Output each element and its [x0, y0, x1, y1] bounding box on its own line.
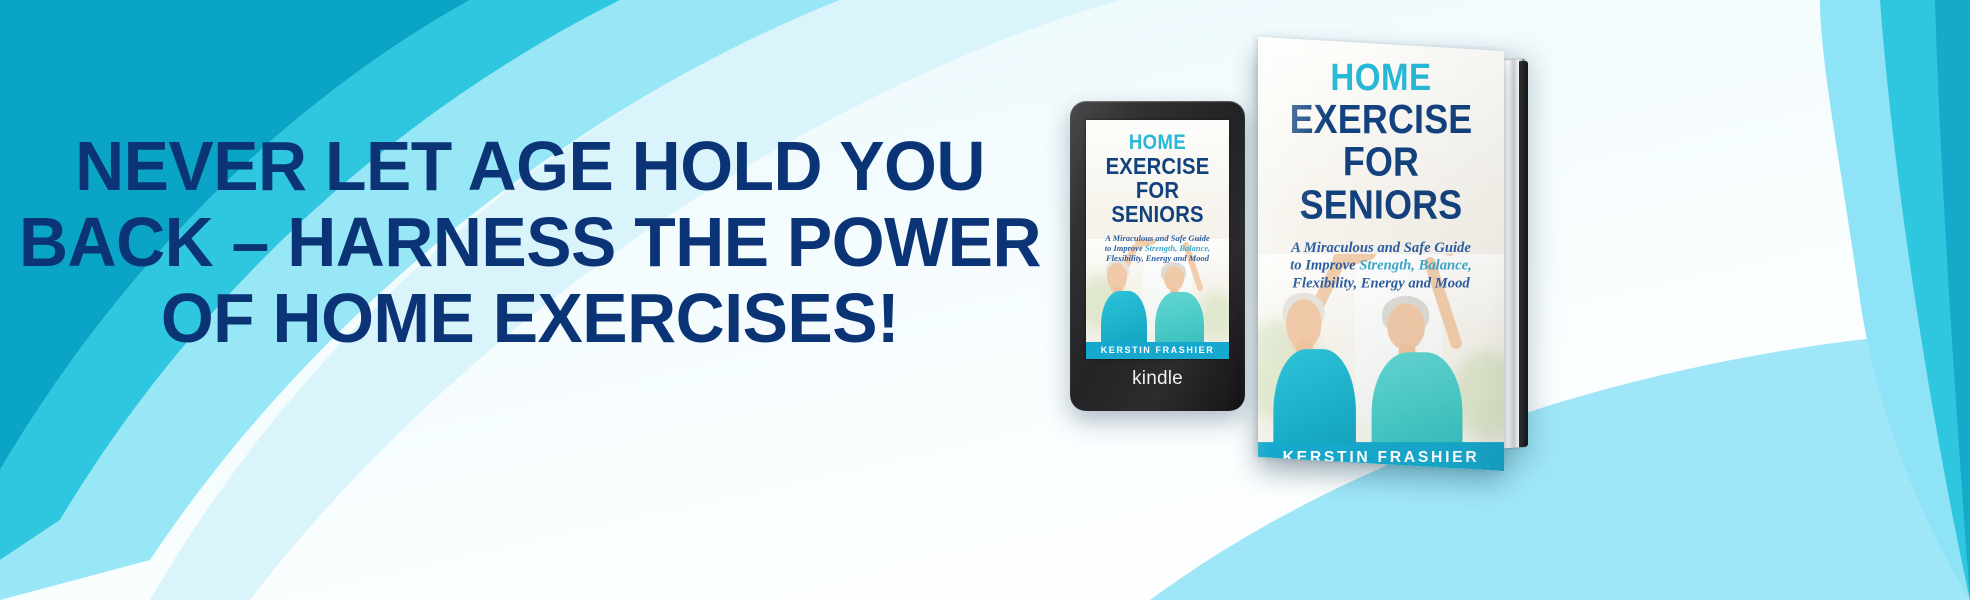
book-title-exercise: EXERCISE	[1268, 98, 1494, 141]
kindle-screen: HOME EXERCISE FOR SENIORS A Miraculous a…	[1086, 120, 1229, 359]
promo-banner: NEVER LET AGE HOLD YOU BACK – HARNESS TH…	[0, 0, 1970, 600]
cover-subtitle-line-2: to Improve Strength, Balance,	[1086, 243, 1229, 253]
book-subtitle-line-2: to Improve Strength, Balance,	[1258, 257, 1504, 275]
cover-title-block: HOME EXERCISE FOR SENIORS A Miraculous a…	[1086, 132, 1229, 263]
book-author-band: KERSTIN FRASHIER	[1258, 442, 1504, 471]
book-subtitle-2-dark: to Improve	[1290, 258, 1359, 274]
book-title-home: HOME	[1268, 58, 1494, 97]
cover-title-exercise: EXERCISE	[1095, 154, 1221, 178]
cover-author-band: KERSTIN FRASHIER	[1086, 342, 1229, 359]
wave-right-light	[1820, 0, 1970, 600]
headline-line-1: NEVER LET AGE HOLD YOU	[16, 128, 1044, 204]
headline-line-2: BACK – HARNESS THE POWER	[16, 204, 1044, 280]
headline-line-3: OF HOME EXERCISES!	[16, 280, 1044, 356]
book-front-cover: HOME EXERCISE FOR SENIORS A Miraculous a…	[1258, 37, 1504, 471]
headline: NEVER LET AGE HOLD YOU BACK – HARNESS TH…	[0, 128, 1060, 356]
cover-title-for-seniors: FOR SENIORS	[1095, 178, 1221, 226]
hardcover-book: HOME EXERCISE FOR SENIORS A Miraculous a…	[1258, 44, 1558, 464]
ebook-cover: HOME EXERCISE FOR SENIORS A Miraculous a…	[1086, 120, 1229, 359]
cover-subtitle-2-dark: to Improve	[1105, 243, 1145, 253]
cover-subtitle-line-1: A Miraculous and Safe Guide	[1086, 233, 1229, 243]
book-subtitle-line-1: A Miraculous and Safe Guide	[1258, 239, 1504, 257]
kindle-brand-logo: kindle	[1070, 369, 1245, 388]
wave-right-mid	[1880, 0, 1970, 600]
book-title-block: HOME EXERCISE FOR SENIORS A Miraculous a…	[1258, 58, 1504, 293]
wave-right-deep	[1935, 0, 1970, 600]
print-book-cover: HOME EXERCISE FOR SENIORS A Miraculous a…	[1258, 37, 1504, 471]
cover-subtitle-line-3: Flexibility, Energy and Mood	[1086, 253, 1229, 263]
cover-title-home: HOME	[1095, 132, 1221, 153]
book-title-for-seniors: FOR SENIORS	[1268, 141, 1494, 227]
book-back-cover-edge	[1519, 61, 1528, 448]
kindle-device: HOME EXERCISE FOR SENIORS A Miraculous a…	[1070, 101, 1245, 411]
cover-subtitle-2-accent: Strength, Balance,	[1145, 243, 1210, 253]
book-cover-artwork: HOME EXERCISE FOR SENIORS A Miraculous a…	[1258, 37, 1504, 471]
book-woman-head	[1388, 303, 1425, 349]
book-subtitle-2-accent: Strength, Balance,	[1359, 258, 1472, 274]
book-subtitle-line-3: Flexibility, Energy and Mood	[1258, 275, 1504, 293]
